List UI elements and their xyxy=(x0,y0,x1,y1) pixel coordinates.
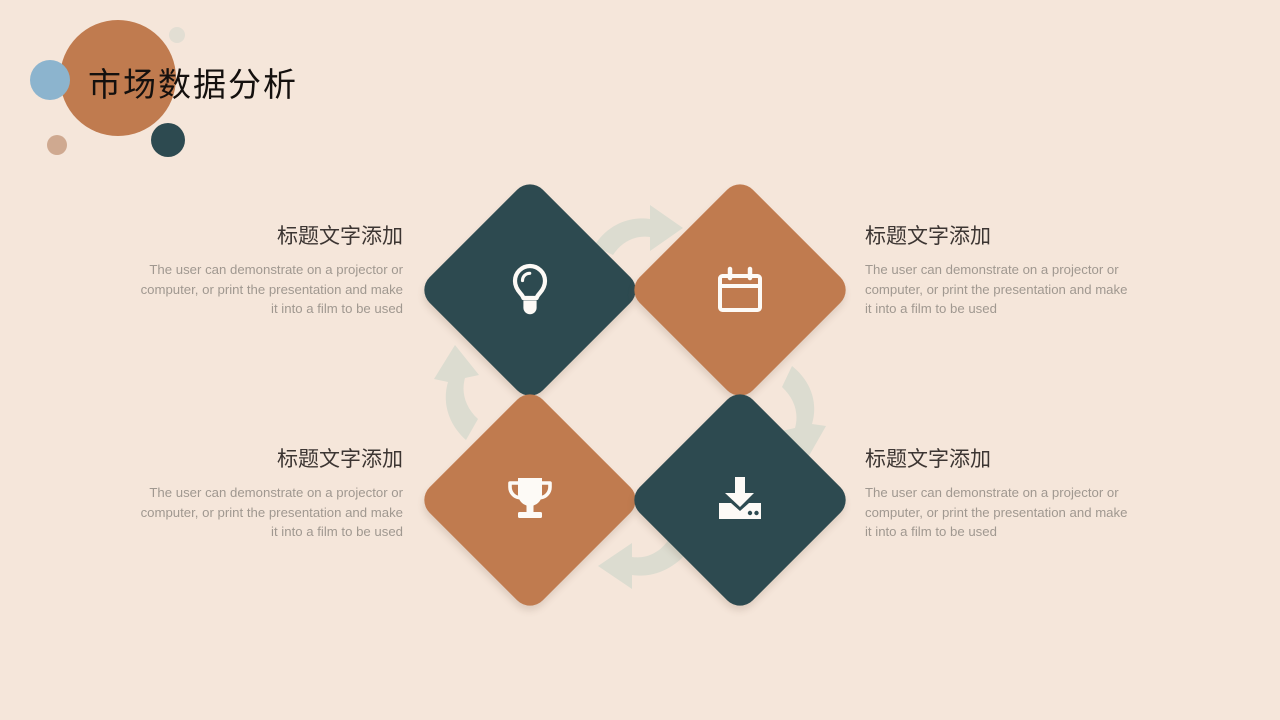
decor-dark-teal-circle xyxy=(151,123,185,157)
decor-blue-circle xyxy=(30,60,70,100)
cycle-node-lightbulb[interactable] xyxy=(450,210,610,370)
trophy-icon xyxy=(450,420,610,580)
cycle-node-download[interactable] xyxy=(660,420,820,580)
text-block-bottom-right: 标题文字添加 The user can demonstrate on a pro… xyxy=(865,443,1137,542)
lightbulb-icon xyxy=(450,210,610,370)
calendar-icon xyxy=(660,210,820,370)
item-body: The user can demonstrate on a projector … xyxy=(865,483,1137,542)
download-icon xyxy=(660,420,820,580)
item-body: The user can demonstrate on a projector … xyxy=(865,260,1137,319)
text-block-bottom-left: 标题文字添加 The user can demonstrate on a pro… xyxy=(131,443,403,542)
slide-canvas: 市场数据分析 xyxy=(0,0,1280,720)
item-title: 标题文字添加 xyxy=(131,220,403,250)
item-title: 标题文字添加 xyxy=(865,220,1137,250)
cycle-node-calendar[interactable] xyxy=(660,210,820,370)
item-body: The user can demonstrate on a projector … xyxy=(131,483,403,542)
cycle-arrow-layer xyxy=(0,0,1280,720)
item-body: The user can demonstrate on a projector … xyxy=(131,260,403,319)
text-block-top-left: 标题文字添加 The user can demonstrate on a pro… xyxy=(131,220,403,319)
cycle-node-trophy[interactable] xyxy=(450,420,610,580)
item-title: 标题文字添加 xyxy=(131,443,403,473)
item-title: 标题文字添加 xyxy=(865,443,1137,473)
decor-pale-circle xyxy=(169,27,185,43)
page-title: 市场数据分析 xyxy=(88,58,298,106)
text-block-top-right: 标题文字添加 The user can demonstrate on a pro… xyxy=(865,220,1137,319)
decor-small-tan-circle xyxy=(47,135,67,155)
